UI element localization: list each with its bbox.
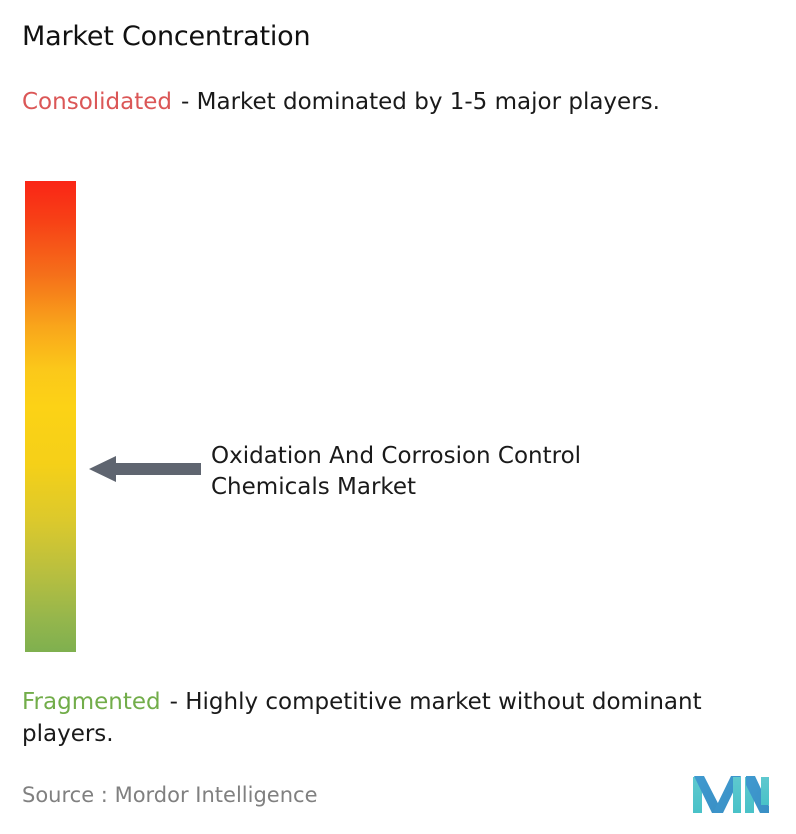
legend-fragmented-term: Fragmented xyxy=(22,689,161,715)
market-concentration-scale-bar xyxy=(25,181,76,652)
source-label: Source : xyxy=(22,783,108,807)
source-value: Mordor Intelligence xyxy=(115,783,318,807)
mordor-intelligence-logo-icon xyxy=(693,771,769,815)
callout-arrow-icon xyxy=(89,454,201,484)
page-title: Market Concentration xyxy=(22,21,310,52)
legend-fragmented: Fragmented- Highly competitive market wi… xyxy=(22,686,782,750)
callout-market-label: Oxidation And Corrosion Control Chemical… xyxy=(211,441,681,503)
legend-consolidated-term: Consolidated xyxy=(22,89,172,115)
legend-consolidated-description: - Market dominated by 1-5 major players. xyxy=(181,89,660,115)
source-attribution: Source : Mordor Intelligence xyxy=(22,783,317,807)
legend-consolidated: Consolidated- Market dominated by 1-5 ma… xyxy=(22,86,774,118)
